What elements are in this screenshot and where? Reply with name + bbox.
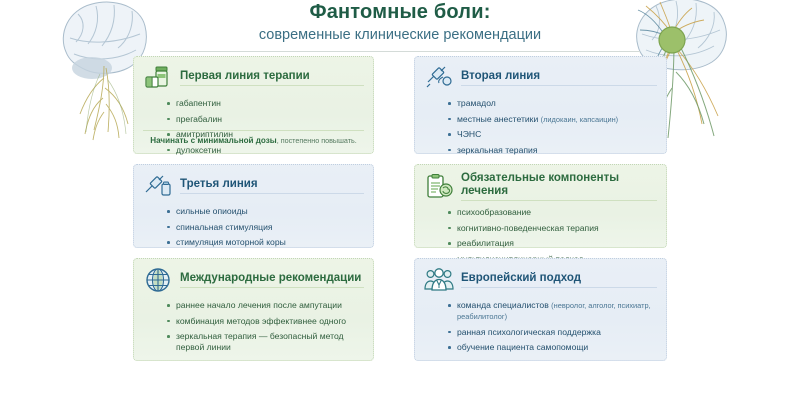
card-european-approach: Европейский подходкоманда специалистов (… [414, 258, 667, 361]
list-item: реабилитация [448, 238, 657, 249]
card-bullet-list: трамадолместные анестетики (лидокаин, ка… [424, 98, 657, 156]
list-item: команда специалистов (невролог, алголог,… [448, 300, 657, 322]
list-item-text: ранная психологическая поддержка [457, 327, 601, 337]
list-item-text: трамадол [457, 98, 496, 108]
card-bullet-list: раннее начало лечения после ампутацииком… [143, 300, 364, 353]
list-item: спинальная стимуляция [167, 222, 364, 233]
card-title: Европейский подход [461, 272, 657, 289]
list-item-text: зеркальная терапия [457, 145, 537, 155]
card-third-line: Третья линиясильные опиоидыспинальная ст… [133, 164, 374, 248]
page-header: Фантомные боли: современные клинические … [0, 2, 800, 52]
list-item-text: комбинация методов эффективнее одного [176, 316, 346, 326]
card-bullet-list: команда специалистов (невролог, алголог,… [424, 300, 657, 353]
footer-note-strong: Начинать с минимальной дозы [150, 136, 276, 145]
infographic-canvas: Фантомные боли: современные клинические … [0, 0, 800, 400]
header-divider [160, 51, 640, 52]
list-item-text: психообразование [457, 207, 531, 217]
list-item: трамадол [448, 98, 657, 109]
list-item: габапентин [167, 98, 364, 109]
card-header: Международные рекомендации [143, 266, 364, 294]
list-item-text: обучение пациента самопомощи [457, 342, 588, 352]
list-item-text: габапентин [176, 98, 221, 108]
list-item-text: ЧЭНС [457, 129, 481, 139]
list-item-text: прегабалин [176, 114, 222, 124]
list-item-text: сильные опиоиды [176, 206, 248, 216]
list-item: психообразование [448, 207, 657, 218]
list-item: сильные опиоиды [167, 206, 364, 217]
list-item-text: раннее начало лечения после ампутации [176, 300, 342, 310]
footer-note-tail: , постепенно повышать. [277, 136, 357, 145]
card-header: Третья линия [143, 172, 364, 200]
card-header: Вторая линия [424, 64, 657, 92]
list-item: зеркальная терапия — безопасный метод пе… [167, 331, 364, 353]
list-item-text: дулоксетин [176, 145, 221, 155]
card-first-line-therapy: Первая линия терапиигабапентинпрегабалин… [133, 56, 374, 154]
list-item-text: зеркальная терапия — безопасный метод пе… [176, 331, 344, 352]
list-item-text: местные анестетики [457, 114, 541, 124]
card-title: Обязательные компоненты лечения [461, 172, 657, 201]
card-second-line: Вторая линиятрамадолместные анестетики (… [414, 56, 667, 154]
card-bullet-list: габапентинпрегабалинамитриптилиндулоксет… [143, 98, 364, 156]
recommendation-cards-grid: Первая линия терапиигабапентинпрегабалин… [133, 56, 667, 361]
page-title: Фантомные боли: [0, 2, 800, 23]
list-item: обучение пациента самопомощи [448, 342, 657, 353]
card-bullet-list: сильные опиоидыспинальная стимуляциястим… [143, 206, 364, 248]
card-title: Международные рекомендации [180, 272, 364, 289]
list-item: когнитивно-поведенческая терапия [448, 223, 657, 234]
list-item-text: спинальная стимуляция [176, 222, 273, 232]
card-title: Первая линия терапии [180, 70, 364, 87]
card-footer-note: Начинать с минимальной дозы, постепенно … [143, 130, 364, 146]
pill-bottle-icon [143, 64, 173, 92]
list-item-text: реабилитация [457, 238, 514, 248]
list-item: стимуляция моторной коры [167, 237, 364, 248]
list-item: зеркальная терапия [448, 145, 657, 156]
list-item-note: (лидокаин, капсаицин) [541, 115, 619, 124]
list-item: прегабалин [167, 114, 364, 125]
card-mandatory-components: Обязательные компоненты леченияпсихообра… [414, 164, 667, 248]
syringe-vial-icon [143, 172, 173, 200]
list-item-text: стимуляция моторной коры [176, 237, 286, 247]
card-bullet-list: психообразованиекогнитивно-поведенческая… [424, 207, 657, 265]
medical-team-icon [424, 266, 454, 294]
syringe-icon [424, 64, 454, 92]
list-item: ЧЭНС [448, 129, 657, 140]
card-header: Европейский подход [424, 266, 657, 294]
card-international-recommendations: Международные рекомендациираннее начало … [133, 258, 374, 361]
card-title: Вторая линия [461, 70, 657, 87]
list-item: комбинация методов эффективнее одного [167, 316, 364, 327]
card-title: Третья линия [180, 178, 364, 195]
card-header: Первая линия терапии [143, 64, 364, 92]
list-item: раннее начало лечения после ампутации [167, 300, 364, 311]
card-header: Обязательные компоненты лечения [424, 172, 657, 201]
list-item: местные анестетики (лидокаин, капсаицин) [448, 114, 657, 125]
list-item-text: команда специалистов [457, 300, 551, 310]
list-item: ранная психологическая поддержка [448, 327, 657, 338]
list-item-text: когнитивно-поведенческая терапия [457, 223, 599, 233]
list-item: дулоксетин [167, 145, 364, 156]
globe-icon [143, 266, 173, 294]
clipboard-brain-icon [424, 173, 454, 201]
page-subtitle: современные клинические рекомендации [0, 28, 800, 44]
